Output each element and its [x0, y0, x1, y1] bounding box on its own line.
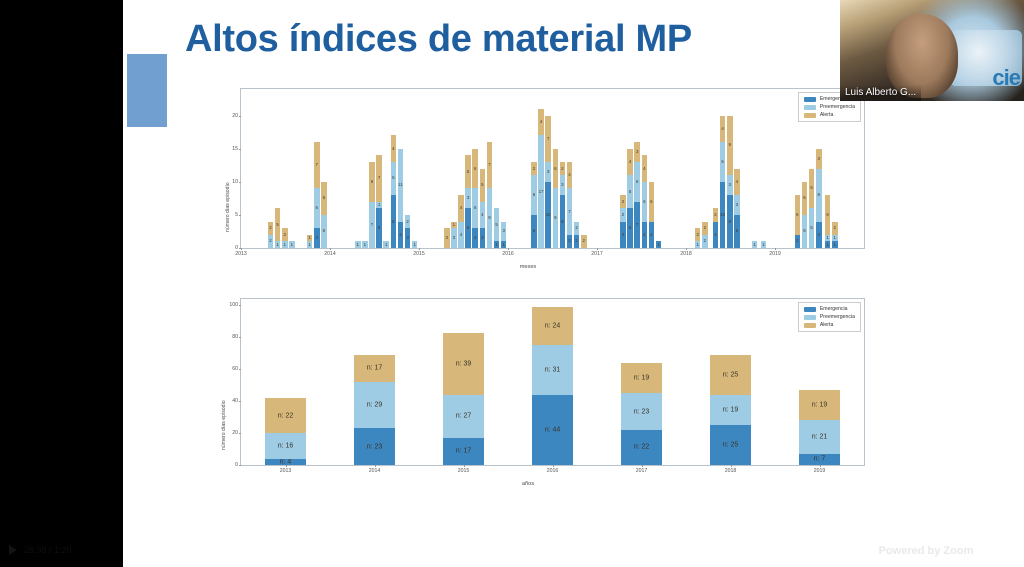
monthly-bar-value: 6 — [472, 166, 478, 170]
monthly-bar-segment-alerta: 6 — [369, 162, 375, 202]
yearly-ytick-mark — [239, 305, 241, 306]
monthly-bar: 13 — [501, 222, 507, 249]
yearly-bar-segment-emergencia: n: 44 — [532, 395, 573, 465]
yearly-ytick: 80 — [232, 334, 238, 340]
monthly-bar: 44 — [458, 195, 464, 248]
yearly-bar-value: n: 23 — [354, 443, 395, 450]
monthly-bar: 15 — [275, 208, 281, 248]
monthly-xtick-mark — [330, 248, 331, 250]
monthly-bar-segment-preemergencia: 6 — [634, 162, 640, 202]
monthly-bar-segment-preemergencia: 1 — [307, 241, 313, 248]
monthly-bar-value: 1 — [825, 236, 831, 240]
monthly-bar: 1037 — [545, 116, 551, 249]
monthly-bar-value: 1 — [307, 236, 313, 240]
yearly-ytick: 100 — [229, 302, 238, 308]
monthly-bar-value: 4 — [816, 233, 822, 237]
monthly-bar-segment-emergencia: 6 — [465, 208, 471, 248]
monthly-bar-segment-alerta: 5 — [275, 208, 281, 241]
monthly-bar-value: 7 — [369, 223, 375, 227]
monthly-bar-value: 4 — [391, 146, 397, 150]
monthly-bar-segment-alerta: 6 — [472, 149, 478, 189]
monthly-bar: 2 — [581, 235, 587, 248]
monthly-bar-value: 2 — [560, 166, 566, 170]
monthly-bar-value: 6 — [553, 166, 559, 170]
monthly-ytick-mark — [239, 149, 241, 150]
monthly-bar-segment-emergencia: 6 — [627, 208, 633, 248]
monthly-bar-value: 5 — [321, 196, 327, 200]
monthly-bar-segment-emergencia: 5 — [734, 215, 740, 248]
monthly-bar-segment-alerta: 2 — [713, 208, 719, 221]
monthly-bar: 839 — [727, 116, 733, 249]
monthly-bar-value: 3 — [634, 150, 640, 154]
yearly-bar-value: n: 19 — [710, 406, 751, 413]
monthly-bar-segment-preemergencia: 2 — [268, 235, 274, 248]
monthly-bar-value: 6 — [634, 180, 640, 184]
monthly-bar-value: 6 — [795, 213, 801, 217]
monthly-bar-value: 17 — [538, 189, 544, 193]
monthly-bar-segment-emergencia: 1 — [494, 241, 500, 248]
monthly-bar-value: 1 — [832, 236, 838, 240]
monthly-bar-segment-emergencia: 8 — [391, 195, 397, 248]
monthly-bar-segment-emergencia: 10 — [720, 182, 726, 248]
monthly-bar-value: 11 — [398, 183, 404, 187]
yearly-bar-segment-alerta: n: 19 — [621, 363, 662, 393]
monthly-bar: 832 — [560, 162, 566, 248]
monthly-bar-segment-emergencia: 3 — [480, 228, 486, 248]
monthly-bar-segment-emergencia: 6 — [376, 208, 382, 248]
speaker-muted-icon[interactable] — [972, 537, 1002, 559]
yearly-bar-value: n: 16 — [265, 442, 306, 449]
monthly-bar-segment-preemergencia: 2 — [620, 208, 626, 221]
chart-yearly-plot-area: n: 4n: 16n: 22n: 23n: 29n: 17n: 17n: 27n… — [240, 298, 865, 466]
monthly-bar-value: 1 — [761, 242, 767, 246]
yearly-bar-value: n: 25 — [710, 442, 751, 449]
monthly-bar-segment-preemergencia: 2 — [574, 222, 580, 235]
monthly-bar-segment-preemergencia: 4 — [458, 222, 464, 249]
monthly-ytick: 20 — [232, 113, 238, 119]
monthly-bar-segment-alerta: 5 — [480, 169, 486, 202]
monthly-bar-value: 1 — [832, 242, 838, 246]
monthly-ytick-mark — [239, 215, 241, 216]
monthly-bar-value: 1 — [412, 242, 418, 246]
yearly-bar-segment-preemergencia: n: 19 — [710, 395, 751, 425]
monthly-bar-segment-alerta: 5 — [802, 182, 808, 215]
monthly-bar-segment-emergencia: 2 — [574, 235, 580, 248]
monthly-bar-value: 6 — [369, 180, 375, 184]
monthly-bar-value: 6 — [809, 226, 815, 230]
monthly-bar-segment-preemergencia: 5 — [627, 175, 633, 208]
monthly-bar-value: 8 — [727, 219, 733, 223]
yearly-ytick-mark — [239, 401, 241, 402]
monthly-bar-value: 7 — [487, 163, 493, 167]
monthly-bar: 112 — [832, 222, 838, 249]
monthly-bar-value: 2 — [268, 239, 274, 243]
yearly-xtick-mark — [642, 465, 643, 467]
monthly-bar-value: 3 — [560, 183, 566, 187]
monthly-bar-value: 7 — [634, 223, 640, 227]
monthly-bar-value: 5 — [627, 189, 633, 193]
monthly-bar-segment-preemergencia: 6 — [531, 175, 537, 215]
monthly-bar-segment-emergencia: 8 — [560, 195, 566, 248]
yearly-bar: n: 17n: 27n: 39 — [443, 333, 484, 465]
monthly-bar-value: 5 — [802, 196, 808, 200]
monthly-bar-segment-alerta: 7 — [545, 116, 551, 162]
legend-swatch-icon — [804, 105, 816, 110]
monthly-bar-value: 5 — [531, 229, 537, 233]
monthly-bar-segment-preemergencia: 1 — [275, 241, 281, 248]
yearly-xtick-mark — [553, 465, 554, 467]
monthly-bar-segment-preemergencia: 9 — [553, 188, 559, 248]
page-title: Altos índices de material MP — [185, 18, 885, 61]
yearly-bar-segment-preemergencia: n: 29 — [354, 382, 395, 428]
monthly-bar-value: 10 — [720, 213, 726, 217]
monthly-bar-value: 4 — [458, 206, 464, 210]
monthly-bar: 31 — [451, 222, 457, 249]
yearly-bar-segment-preemergencia: n: 31 — [532, 345, 573, 394]
monthly-bar-segment-preemergencia: 4 — [480, 202, 486, 229]
monthly-bar-value: 2 — [695, 233, 701, 237]
monthly-bar-segment-alerta: 6 — [825, 195, 831, 235]
yearly-xtick: 2017 — [636, 468, 648, 474]
monthly-bar-segment-alerta: 4 — [458, 195, 464, 222]
monthly-bar-segment-alerta: 4 — [391, 135, 397, 162]
yearly-bar-segment-alerta: n: 22 — [265, 398, 306, 433]
yearly-bar-segment-emergencia: n: 17 — [443, 438, 484, 465]
monthly-bar-segment-emergencia: 2 — [567, 235, 573, 248]
monthly-bar: 1 — [383, 241, 389, 248]
yearly-bar-value: n: 22 — [265, 412, 306, 419]
chart-monthly-episodes: número días episodio 2215121113675511766… — [183, 82, 873, 277]
yearly-bar-segment-emergencia: n: 23 — [354, 428, 395, 465]
monthly-bar: 26 — [795, 195, 801, 248]
monthly-bar: 1 — [355, 241, 361, 248]
monthly-bar-value: 3 — [451, 236, 457, 240]
monthly-bar: 15 — [494, 208, 500, 248]
monthly-bar-segment-alerta: 3 — [444, 228, 450, 248]
yearly-bar-value: n: 31 — [532, 367, 573, 374]
monthly-bar-value: 1 — [501, 242, 507, 246]
monthly-xtick: 2019 — [769, 251, 781, 257]
yearly-ytick: 20 — [232, 430, 238, 436]
yearly-bar-value: n: 27 — [443, 413, 484, 420]
monthly-bar-value: 4 — [720, 127, 726, 131]
monthly-bar-value: 1 — [695, 242, 701, 246]
yearly-bar: n: 22n: 23n: 19 — [621, 363, 662, 465]
monthly-bar-segment-preemergencia: 1 — [832, 235, 838, 242]
monthly-bar-value: 4 — [642, 233, 648, 237]
legend-swatch-icon — [804, 113, 816, 118]
monthly-xtick: 2018 — [680, 251, 692, 257]
yearly-bar-segment-alerta: n: 17 — [354, 355, 395, 382]
monthly-bar: 483 — [816, 149, 822, 248]
yearly-xtick-mark — [286, 465, 287, 467]
monthly-bar-segment-preemergencia: 11 — [398, 149, 404, 222]
monthly-bar-segment-preemergencia: 1 — [412, 241, 418, 248]
monthly-bar-segment-preemergencia: 9 — [487, 188, 493, 248]
monthly-bar-segment-preemergencia: 5 — [321, 215, 327, 248]
monthly-bar-value: 2 — [574, 226, 580, 230]
monthly-xtick-mark — [419, 248, 420, 250]
monthly-bar-value: 8 — [560, 219, 566, 223]
yearly-bar-segment-preemergencia: n: 16 — [265, 433, 306, 459]
monthly-bar-segment-alerta: 1 — [451, 222, 457, 229]
monthly-bar-value: 7 — [314, 163, 320, 167]
monthly-bar-segment-emergencia: 10 — [545, 182, 551, 248]
yearly-bar-value: n: 7 — [799, 456, 840, 463]
monthly-bar-value: 2 — [282, 233, 288, 237]
monthly-bar-value: 3 — [816, 156, 822, 160]
monthly-bar-value: 1 — [656, 242, 662, 246]
monthly-bar-value: 5 — [480, 183, 486, 187]
monthly-bar-value: 9 — [727, 143, 733, 147]
monthly-bar: 1064 — [720, 116, 726, 249]
yearly-ytick: 40 — [232, 398, 238, 404]
monthly-bar-value: 2 — [567, 239, 573, 243]
monthly-bar-segment-emergencia: 3 — [405, 228, 411, 248]
monthly-xtick: 2013 — [235, 251, 247, 257]
monthly-bar-segment-alerta: 2 — [832, 222, 838, 235]
yearly-bar-value: n: 24 — [532, 323, 573, 330]
chart-yearly-xlabel: años — [183, 481, 873, 487]
participant-video-tile[interactable]: cie Luis Alberto G... — [840, 0, 1024, 101]
monthly-bar-segment-emergencia: 8 — [727, 195, 733, 248]
monthly-bar-value: 1 — [451, 223, 457, 227]
monthly-bar: 42 — [713, 208, 719, 248]
legend-item-alerta: Alerta — [804, 322, 855, 328]
monthly-xtick: 2014 — [324, 251, 336, 257]
monthly-bar: 345 — [480, 169, 486, 249]
monthly-bar-value: 6 — [720, 160, 726, 164]
yearly-bar-segment-alerta: n: 39 — [443, 333, 484, 395]
monthly-bar-value: 4 — [620, 233, 626, 237]
monthly-bar: 422 — [620, 195, 626, 248]
monthly-bar-segment-preemergencia: 7 — [567, 188, 573, 234]
yearly-bar-value: n: 21 — [799, 434, 840, 441]
monthly-bar-segment-alerta: 5 — [321, 182, 327, 215]
monthly-bar-segment-alerta: 4 — [538, 109, 544, 136]
monthly-bar-value: 4 — [458, 233, 464, 237]
monthly-bar-value: 4 — [538, 120, 544, 124]
monthly-bar-value: 4 — [713, 233, 719, 237]
monthly-bar: 367 — [314, 142, 320, 248]
playback-time: 28:38 / 1:20 — [24, 545, 72, 555]
monthly-bar-segment-preemergencia: 1 — [825, 235, 831, 242]
monthly-bar-value: 6 — [825, 213, 831, 217]
monthly-bar-segment-preemergencia: 1 — [695, 241, 701, 248]
yearly-xtick-mark — [375, 465, 376, 467]
monthly-bar: 534 — [734, 169, 740, 249]
video-player-controls[interactable]: 28:38 / 1:20 — [0, 533, 123, 567]
monthly-bar-value: 2 — [620, 199, 626, 203]
monthly-bar-value: 4 — [567, 173, 573, 177]
monthly-bar-segment-alerta: 7 — [376, 155, 382, 201]
monthly-bar-segment-preemergencia: 5 — [391, 162, 397, 195]
yearly-ytick: 0 — [235, 462, 238, 468]
yearly-ytick-mark — [239, 465, 241, 466]
yearly-bar-segment-emergencia: n: 7 — [799, 454, 840, 465]
yearly-bar-value: n: 29 — [354, 402, 395, 409]
chart-monthly-xlabel: meses — [183, 264, 873, 270]
monthly-bar-value: 3 — [314, 236, 320, 240]
monthly-bar: 562 — [531, 162, 537, 248]
monthly-bar-segment-alerta: 9 — [727, 116, 733, 176]
monthly-bar: 464 — [642, 155, 648, 248]
monthly-bar-segment-alerta: 6 — [553, 149, 559, 189]
monthly-bar-segment-alerta: 6 — [809, 169, 815, 209]
monthly-bar-value: 6 — [642, 199, 648, 203]
monthly-bar-value: 6 — [649, 199, 655, 203]
chart-yearly-ylabel: número días episodio — [221, 400, 227, 450]
yearly-ytick-mark — [239, 433, 241, 434]
monthly-bar-value: 3 — [472, 236, 478, 240]
monthly-bar-segment-emergencia: 3 — [472, 228, 478, 248]
monthly-xtick-mark — [597, 248, 598, 250]
monthly-bar: 22 — [268, 222, 274, 249]
monthly-bar-value: 3 — [405, 236, 411, 240]
yearly-xtick: 2014 — [369, 468, 381, 474]
yearly-ytick: 60 — [232, 366, 238, 372]
monthly-bar-value: 6 — [376, 226, 382, 230]
monthly-bar: 174 — [538, 109, 544, 248]
monthly-bar-value: 1 — [752, 242, 758, 246]
monthly-bar-segment-emergencia: 7 — [634, 202, 640, 248]
monthly-bar-value: 1 — [362, 242, 368, 246]
monthly-bar-segment-emergencia: 3 — [314, 228, 320, 248]
monthly-bar-value: 1 — [289, 242, 295, 246]
monthly-bar-value: 5 — [391, 176, 397, 180]
monthly-bar-segment-alerta: 4 — [734, 169, 740, 196]
yearly-ytick-mark — [239, 337, 241, 338]
monthly-bar-segment-preemergencia: 1 — [752, 241, 758, 248]
yearly-bar-segment-preemergencia: n: 23 — [621, 393, 662, 430]
monthly-bar-segment-preemergencia: 2 — [702, 235, 708, 248]
monthly-bar-value: 1 — [275, 242, 281, 246]
monthly-bar-segment-alerta: 6 — [795, 195, 801, 235]
monthly-bar-segment-emergencia: 5 — [531, 215, 537, 248]
monthly-bar: 97 — [487, 142, 493, 248]
monthly-bar-value: 4 — [734, 180, 740, 184]
monthly-bar-value: 9 — [553, 216, 559, 220]
monthly-bar: 411 — [398, 149, 404, 248]
legend-label: Emergencia — [820, 306, 848, 312]
monthly-bar-segment-preemergencia: 1 — [376, 202, 382, 209]
monthly-bar-segment-emergencia: 1 — [656, 241, 662, 248]
legend-item-preemergencia: Preemergencia — [804, 104, 855, 110]
monthly-bar: 1 — [289, 241, 295, 248]
monthly-bar-value: 7 — [545, 136, 551, 140]
yearly-legend: EmergenciaPreemergenciaAlerta — [798, 302, 861, 332]
monthly-bar-value: 3 — [465, 196, 471, 200]
monthly-bar-value: 6 — [314, 206, 320, 210]
monthly-bar-segment-preemergencia: 1 — [362, 241, 368, 248]
monthly-bar: 22 — [702, 222, 708, 249]
monthly-bar-segment-preemergencia: 17 — [538, 135, 544, 248]
legend-label: Alerta — [820, 322, 834, 328]
yearly-bar-value: n: 19 — [621, 375, 662, 382]
monthly-bar: 617 — [376, 155, 382, 248]
monthly-bar-segment-preemergencia: 5 — [494, 208, 500, 241]
monthly-bar-segment-alerta: 7 — [487, 142, 493, 188]
monthly-bar-segment-preemergencia: 1 — [282, 241, 288, 248]
monthly-bar-segment-preemergencia: 6 — [642, 182, 648, 222]
monthly-bar-value: 6 — [531, 193, 537, 197]
monthly-bar-segment-alerta: 2 — [560, 162, 566, 175]
legend-label: Preemergencia — [820, 104, 855, 110]
yearly-bar-value: n: 17 — [443, 448, 484, 455]
yearly-xtick-mark — [731, 465, 732, 467]
monthly-bar-segment-emergencia: 4 — [620, 222, 626, 249]
video-stage: Altos índices de material MP número días… — [0, 0, 1024, 567]
monthly-bar-segment-alerta: 4 — [720, 116, 726, 143]
monthly-bar-value: 5 — [275, 223, 281, 227]
yearly-bar-value: n: 23 — [621, 408, 662, 415]
monthly-bar-value: 10 — [545, 213, 551, 217]
monthly-bar-segment-alerta: 2 — [620, 195, 626, 208]
monthly-xtick: 2016 — [502, 251, 514, 257]
monthly-bar-value: 3 — [444, 236, 450, 240]
monthly-bar: 1 — [362, 241, 368, 248]
monthly-bar-segment-preemergencia: 6 — [314, 188, 320, 228]
yearly-bar-value: n: 39 — [443, 360, 484, 367]
monthly-bar-value: 2 — [268, 226, 274, 230]
monthly-bar: 763 — [634, 142, 640, 248]
monthly-bar-value: 5 — [465, 170, 471, 174]
monthly-bar-value: 6 — [472, 206, 478, 210]
legend-swatch-icon — [804, 97, 816, 102]
monthly-xtick-mark — [508, 248, 509, 250]
monthly-bar-segment-preemergencia: 3 — [451, 228, 457, 248]
monthly-ytick: 10 — [232, 179, 238, 185]
chart-monthly-ylabel: número días episodio — [225, 182, 231, 232]
yearly-bar: n: 4n: 16n: 22 — [265, 398, 306, 465]
monthly-bar-value: 2 — [405, 219, 411, 223]
chart-yearly-episodes: número días episodio n: 4n: 16n: 22n: 23… — [183, 292, 873, 492]
monthly-bar: 32 — [405, 215, 411, 248]
monthly-bar-segment-preemergencia: 8 — [816, 169, 822, 222]
legend-swatch-icon — [804, 307, 816, 312]
monthly-bar-value: 5 — [321, 229, 327, 233]
monthly-bar-value: 2 — [832, 226, 838, 230]
yearly-bar-segment-emergencia: n: 25 — [710, 425, 751, 465]
monthly-bar-segment-preemergencia: 7 — [369, 202, 375, 248]
yearly-xtick: 2016 — [547, 468, 559, 474]
monthly-bar-value: 8 — [391, 219, 397, 223]
yearly-bar-value: n: 19 — [799, 402, 840, 409]
monthly-bar-value: 2 — [702, 239, 708, 243]
monthly-xtick-mark — [241, 248, 242, 250]
yearly-xtick: 2013 — [280, 468, 292, 474]
monthly-bar-value: 9 — [487, 216, 493, 220]
monthly-bar-segment-emergencia: 1 — [501, 241, 507, 248]
monthly-bar-value: 6 — [627, 226, 633, 230]
monthly-ytick-mark — [239, 116, 241, 117]
monthly-bar-segment-emergencia: 1 — [825, 241, 831, 248]
monthly-bar-segment-alerta: 3 — [816, 149, 822, 169]
participant-name-label: Luis Alberto G... — [840, 85, 921, 101]
yearly-bar-segment-alerta: n: 19 — [799, 390, 840, 420]
monthly-bar-value: 1 — [494, 242, 500, 246]
monthly-bar: 12 — [282, 228, 288, 248]
play-icon[interactable] — [9, 545, 17, 555]
monthly-bar-segment-alerta: 2 — [695, 228, 701, 241]
monthly-bar-value: 2 — [713, 213, 719, 217]
legend-swatch-icon — [804, 315, 816, 320]
monthly-bar-segment-emergencia: 4 — [816, 222, 822, 249]
monthly-bar-segment-preemergencia: 3 — [465, 188, 471, 208]
monthly-bar: 274 — [567, 162, 573, 248]
monthly-bar-value: 2 — [574, 239, 580, 243]
monthly-bar-segment-emergencia: 4 — [398, 222, 404, 249]
